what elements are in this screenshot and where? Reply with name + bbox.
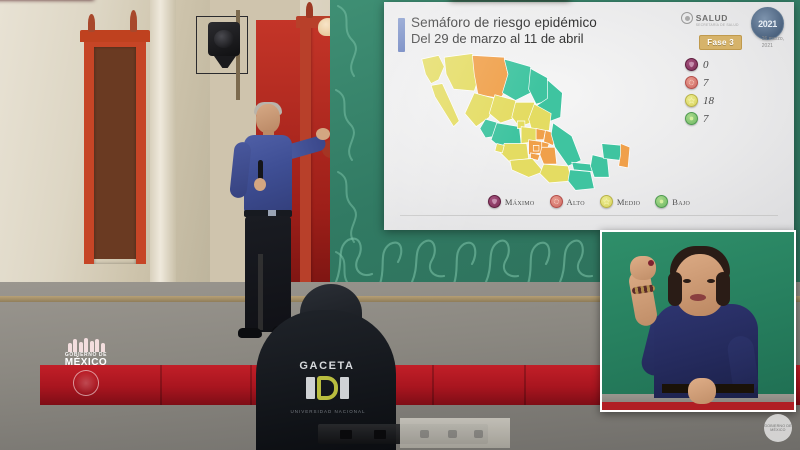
projection-screen: Semáforo de riesgo epidémico Del 29 de m… bbox=[384, 2, 794, 230]
gaceta-logo-bar bbox=[306, 377, 315, 399]
salud-label: SALUD bbox=[696, 13, 728, 23]
emblem-line-1: GOBIERNO DE bbox=[55, 352, 117, 358]
legend-item-alto: Alto bbox=[550, 195, 585, 208]
salud-logo: SALUD SECRETARÍA DE SALUD bbox=[681, 12, 728, 24]
map-state bbox=[529, 69, 550, 105]
risk-count-list: 0 7 18 bbox=[685, 58, 714, 125]
legend-divider bbox=[400, 215, 778, 216]
legend-item-maximo: Máximo bbox=[488, 195, 535, 208]
equipment-knob-1 bbox=[340, 430, 352, 439]
interpreter-hair-left bbox=[668, 272, 682, 306]
backdrop-pattern-side bbox=[330, 0, 370, 300]
door-frame-left bbox=[84, 38, 146, 264]
emblem-line-2: MÉXICO bbox=[55, 357, 117, 368]
speaker-trousers bbox=[245, 216, 291, 332]
count-row-bajo: 7 bbox=[685, 112, 714, 125]
broadcast-watermark: GOBIERNO DE MÉXICO bbox=[764, 414, 792, 442]
legend-label-bajo: Bajo bbox=[672, 197, 690, 207]
watermark-text: GOBIERNO DE MÉXICO bbox=[764, 424, 792, 433]
gaceta-logo-b bbox=[317, 376, 338, 400]
legend-label-alto: Alto bbox=[567, 197, 585, 207]
star-glyph bbox=[688, 97, 695, 104]
legend-item-medio: Medio bbox=[600, 195, 640, 208]
emblem-figures-icon bbox=[55, 336, 117, 352]
slide-date-line1: 26 marzo, bbox=[762, 36, 784, 43]
title-accent-bar bbox=[398, 18, 405, 52]
map-state bbox=[540, 147, 557, 164]
skirt-fold-4 bbox=[432, 365, 434, 405]
skirt-fold-5 bbox=[524, 365, 526, 405]
legend-bajo-circle-icon bbox=[655, 195, 668, 208]
gobierno-de-mexico-emblem: GOBIERNO DE MÉXICO bbox=[55, 336, 117, 392]
mexico-risk-map bbox=[408, 46, 638, 196]
medio-star-icon bbox=[685, 94, 698, 107]
seal-year-label: 2021 bbox=[758, 19, 777, 29]
panel-mark-3 bbox=[474, 430, 483, 438]
interpreter-eye-right bbox=[707, 279, 715, 283]
salud-sublabel: SECRETARÍA DE SALUD bbox=[696, 23, 739, 27]
map-state bbox=[602, 144, 623, 161]
legend-maximo-shield-icon bbox=[488, 195, 501, 208]
map-state bbox=[495, 144, 504, 153]
legend-label-maximo: Máximo bbox=[505, 197, 535, 207]
speaker-shirt bbox=[244, 135, 292, 213]
emblem-seal-icon bbox=[73, 370, 99, 396]
count-medio: 18 bbox=[703, 95, 714, 107]
door-finial-right bbox=[306, 2, 313, 18]
speaker-left-hand bbox=[254, 178, 266, 191]
camera-lens bbox=[214, 30, 234, 48]
speaker-head bbox=[256, 104, 280, 133]
door-finial-left-a bbox=[88, 14, 95, 32]
gaceta-jacket-text: GACETA bbox=[287, 360, 367, 372]
mexico-map-svg bbox=[408, 46, 638, 196]
risk-legend: Máximo Alto Medio bbox=[384, 195, 794, 208]
count-alto: 7 bbox=[703, 77, 709, 89]
count-row-medio: 18 bbox=[685, 94, 714, 107]
alto-gear-icon bbox=[685, 76, 698, 89]
interpreter-eye-left bbox=[683, 279, 691, 283]
bajo-circle-icon bbox=[685, 112, 698, 125]
interpreter-lower-hand bbox=[688, 378, 716, 404]
legend-alto-gear-icon bbox=[550, 195, 563, 208]
legend-medio-star-icon bbox=[600, 195, 613, 208]
maximo-shield-icon bbox=[685, 58, 698, 71]
slide-title: Semáforo de riesgo epidémico bbox=[411, 14, 597, 31]
skirt-fold-2 bbox=[250, 365, 252, 405]
count-maximo: 0 bbox=[703, 59, 709, 71]
map-state bbox=[510, 159, 544, 178]
count-bajo: 7 bbox=[703, 113, 709, 125]
shield-glyph bbox=[688, 61, 695, 68]
legend-label-medio: Medio bbox=[617, 197, 640, 207]
slide-header: Semáforo de riesgo epidémico Del 29 de m… bbox=[411, 14, 597, 48]
speaker-shoe-left bbox=[238, 328, 262, 338]
salud-eagle-icon bbox=[681, 12, 693, 24]
wall-pilaster-a bbox=[150, 0, 176, 300]
panel-mark-1 bbox=[420, 430, 429, 438]
map-state bbox=[431, 84, 459, 127]
interpreter-hair-right bbox=[716, 272, 730, 306]
count-row-maximo: 0 bbox=[685, 58, 714, 71]
circle-glyph bbox=[688, 115, 695, 122]
sign-language-interpreter-inset bbox=[600, 230, 796, 412]
broadcast-frame: Semáforo de riesgo epidémico Del 29 de m… bbox=[0, 0, 800, 450]
speaker-right-hand bbox=[316, 128, 330, 140]
map-state bbox=[422, 55, 445, 83]
skirt-fold-1 bbox=[160, 365, 162, 405]
interpreter-ring bbox=[648, 260, 654, 266]
panel-mark-2 bbox=[448, 430, 457, 438]
door-finial-left-b bbox=[130, 10, 137, 32]
map-state bbox=[568, 170, 594, 191]
gaceta-jacket-logo-icon bbox=[290, 374, 364, 402]
count-row-alto: 7 bbox=[685, 76, 714, 89]
map-state bbox=[540, 164, 572, 183]
gaceta-logo-bar-2 bbox=[340, 377, 349, 399]
legend-item-bajo: Bajo bbox=[655, 195, 690, 208]
slide-date-line2: 2021 bbox=[762, 43, 784, 50]
equipment-panel bbox=[400, 418, 510, 448]
gaceta-jacket-subtext: UNIVERSIDAD NACIONAL bbox=[282, 409, 374, 414]
interpreter-mouth bbox=[690, 294, 706, 301]
phase-badge: Fase 3 bbox=[699, 35, 742, 50]
speaker-leg-gap bbox=[258, 254, 263, 330]
gear-glyph bbox=[688, 79, 695, 86]
map-state bbox=[619, 144, 630, 168]
map-state bbox=[533, 145, 539, 151]
slide-surface: Semáforo de riesgo epidémico Del 29 de m… bbox=[384, 2, 794, 230]
slide-date: 26 marzo, 2021 bbox=[762, 36, 784, 50]
equipment-knob-2 bbox=[374, 430, 386, 439]
